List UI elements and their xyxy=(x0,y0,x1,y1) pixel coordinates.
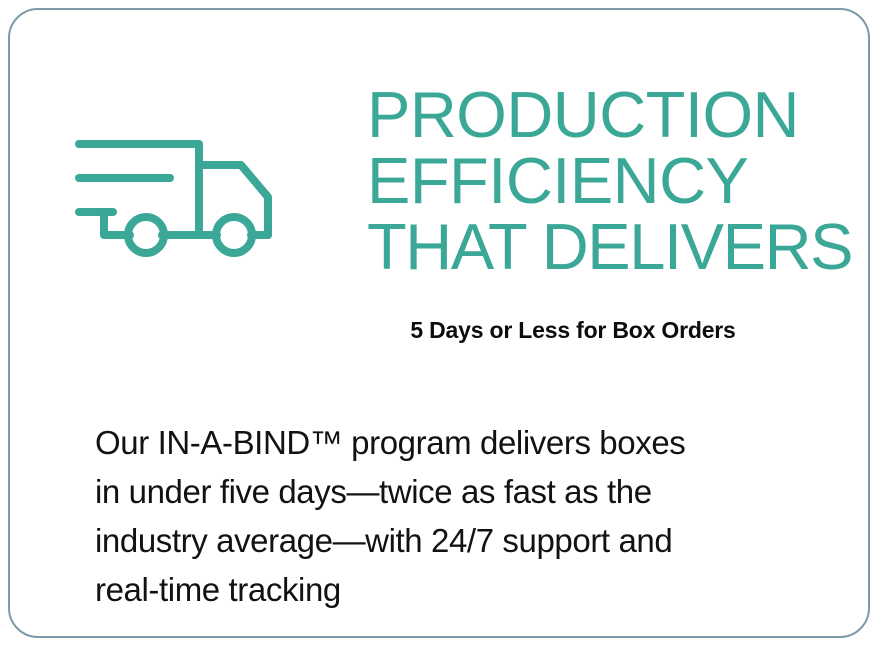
headline-line-1: PRODUCTION xyxy=(367,82,837,148)
subtitle: 5 Days or Less for Box Orders xyxy=(367,315,779,345)
body-copy-line-2: in under five days—twice as fast as the xyxy=(95,467,810,516)
body-copy-line-4: real-time tracking xyxy=(95,565,810,614)
headline-line-2: EFFICIENCY xyxy=(367,148,837,214)
headline-block: PRODUCTION EFFICIENCY THAT DELIVERS xyxy=(367,82,837,280)
body-copy-line-1: Our IN-A-BIND™ program delivers boxes xyxy=(95,418,810,467)
feature-card: PRODUCTION EFFICIENCY THAT DELIVERS 5 Da… xyxy=(8,8,870,638)
delivery-truck-icon xyxy=(65,122,295,267)
body-copy-line-3: industry average—with 24/7 support and xyxy=(95,516,810,565)
body-copy: Our IN-A-BIND™ program delivers boxes in… xyxy=(95,418,810,614)
headline-line-3: THAT DELIVERS xyxy=(367,214,837,280)
